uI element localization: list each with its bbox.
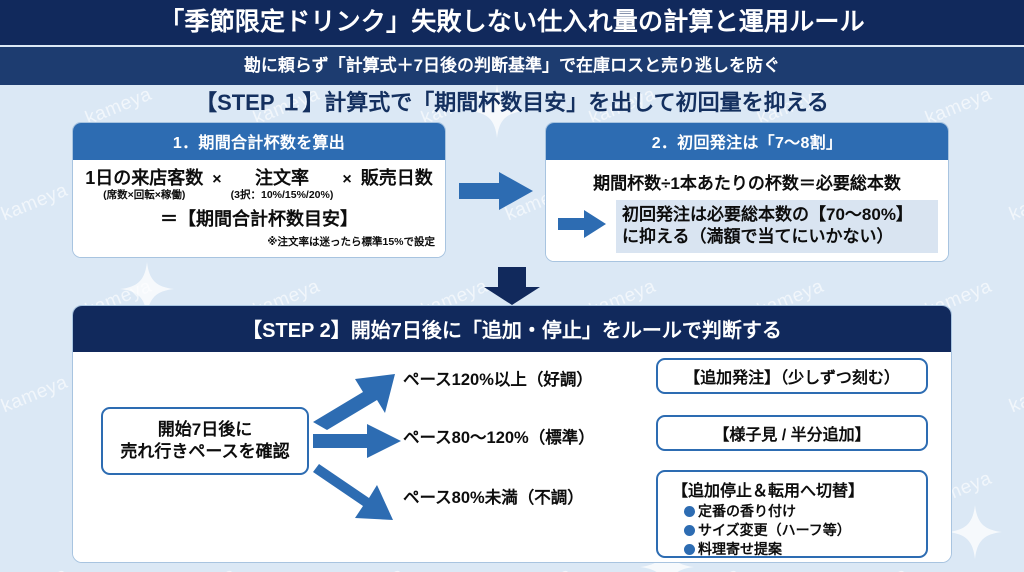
step1-panel-1-body: 1日の来店客数 (席数×回転×稼働) × 注文率 (3択：10%/15%/20%… (73, 160, 445, 257)
watermark-text: kameya (1006, 564, 1024, 572)
list-item: サイズ変更（ハーフ等） (684, 521, 918, 540)
step1-panel-1: 1．期間合計杯数を算出 1日の来店客数 (席数×回転×稼働) × 注文率 (3択… (72, 122, 446, 258)
list-item: 料理寄せ提案 (684, 540, 918, 559)
page-title: 「季節限定ドリンク」失敗しない仕入れ量の計算と運用ルール (0, 0, 1024, 45)
step2-source-box: 開始7日後に 売れ行きペースを確認 (101, 407, 309, 475)
panel2-formula-line: 期間杯数÷1本あたりの杯数＝必要総本数 (556, 169, 938, 194)
formula-note: ※注文率は迷ったら標準15%で設定 (83, 234, 435, 249)
watermark-text: kameya (166, 564, 239, 572)
header-title-band: 「季節限定ドリンク」失敗しない仕入れ量の計算と運用ルール (0, 0, 1024, 45)
bullet-icon (684, 544, 695, 555)
list-item: 定番の香り付け (684, 502, 918, 521)
list-item-label: サイズ変更（ハーフ等） (698, 522, 851, 538)
step1-panel-2-heading: 2．初回発注は「7〜8割」 (546, 123, 948, 160)
bullet-icon (684, 506, 695, 517)
panel2-highlight-text: 初回発注は必要総本数の【70〜80%】 に抑える（満額で当てにいかない） (616, 200, 938, 253)
page-subtitle: 勘に頼らず「計算式＋7日後の判断基準」で在庫ロスと売り逃しを防ぐ (0, 47, 1024, 85)
watermark-text: kameya (334, 564, 407, 572)
formula-row: 1日の来店客数 (席数×回転×稼働) × 注文率 (3択：10%/15%/20%… (83, 169, 435, 202)
branch-result-box-0: 【追加発注】（少しずつ刻む） (656, 358, 928, 394)
panel2-highlight-line-1: 初回発注は必要総本数の【70〜80%】 (622, 204, 933, 226)
list-item-label: 料理寄せ提案 (698, 541, 782, 557)
source-box-line-1: 開始7日後に (120, 419, 289, 441)
formula-operator-1: × (212, 169, 221, 189)
arrow-down-icon (478, 265, 546, 307)
branch-result-box-2: 【追加停止＆転用へ切替】 定番の香り付け サイズ変更（ハーフ等） 料理寄せ提案 (656, 470, 928, 558)
watermark-text: kameya (0, 180, 71, 226)
step2-body: 開始7日後に 売れ行きペースを確認 ペース120%以上（好調） ペース80〜12… (73, 352, 951, 563)
step1-panel-2: 2．初回発注は「7〜8割」 期間杯数÷1本あたりの杯数＝必要総本数 初回発注は必… (545, 122, 949, 262)
source-box-line-2: 売れ行きペースを確認 (120, 441, 289, 463)
watermark-text: kameya (502, 564, 575, 572)
watermark-text: kameya (838, 564, 911, 572)
step1-title: 【STEP １】計算式で「期間杯数目安」を出して初回量を抑える (0, 88, 1024, 118)
watermark-text: kameya (0, 564, 71, 572)
bullet-icon (684, 525, 695, 536)
formula-result: ＝【期間合計杯数目安】 (83, 205, 435, 231)
step2-title: 【STEP 2】開始7日後に「追加・停止」をルールで判断する (73, 306, 951, 352)
formula-term-1-sub: (席数×回転×稼働) (85, 189, 203, 202)
sparkle-icon (948, 505, 1002, 559)
formula-term-1-main: 1日の来店客数 (85, 169, 203, 189)
formula-term-2-sub: (3択：10%/15%/20%) (231, 189, 334, 202)
branch-condition-1: ペース80〜120%（標準） (403, 424, 595, 448)
branch-result-list-2: 定番の香り付け サイズ変更（ハーフ等） 料理寄せ提案 (672, 502, 918, 558)
panel2-highlight-line-2: に抑える（満額で当てにいかない） (622, 226, 933, 248)
formula-term-3: 販売日数 (361, 169, 433, 189)
branch-result-box-1: 【様子見 / 半分追加】 (656, 415, 928, 451)
arrow-right-icon (556, 207, 608, 246)
formula-term-1: 1日の来店客数 (席数×回転×稼働) (85, 169, 203, 202)
arrow-right-icon (455, 168, 537, 214)
formula-term-3-main: 販売日数 (361, 169, 433, 189)
header-subtitle-band: 勘に頼らず「計算式＋7日後の判断基準」で在庫ロスと売り逃しを防ぐ (0, 47, 1024, 85)
list-item-label: 定番の香り付け (698, 503, 796, 519)
watermark-text: kameya (0, 372, 71, 418)
branch-result-title-2: 【追加停止＆転用へ切替】 (672, 477, 918, 501)
branch-result-text-0: 【追加発注】（少しずつ刻む） (684, 364, 900, 388)
step1-panel-1-heading: 1．期間合計杯数を算出 (73, 123, 445, 160)
panel2-highlight-row: 初回発注は必要総本数の【70〜80%】 に抑える（満額で当てにいかない） (556, 200, 938, 253)
branch-condition-2: ペース80%未満（不調） (403, 484, 584, 508)
step2-panel: 【STEP 2】開始7日後に「追加・停止」をルールで判断する 開始7日後に 売れ… (72, 305, 952, 563)
branch-condition-0: ペース120%以上（好調） (403, 366, 593, 390)
arrow-down-right-icon (311, 448, 403, 526)
formula-term-2: 注文率 (3択：10%/15%/20%) (231, 169, 334, 202)
formula-operator-2: × (342, 169, 351, 189)
watermark-text: kameya (1006, 180, 1024, 226)
step1-panel-2-body: 期間杯数÷1本あたりの杯数＝必要総本数 初回発注は必要総本数の【70〜80%】 … (546, 160, 948, 261)
watermark-text: kameya (1006, 372, 1024, 418)
branch-result-text-1: 【様子見 / 半分追加】 (713, 421, 870, 445)
watermark-text: kameya (670, 564, 743, 572)
formula-term-2-main: 注文率 (231, 169, 334, 189)
